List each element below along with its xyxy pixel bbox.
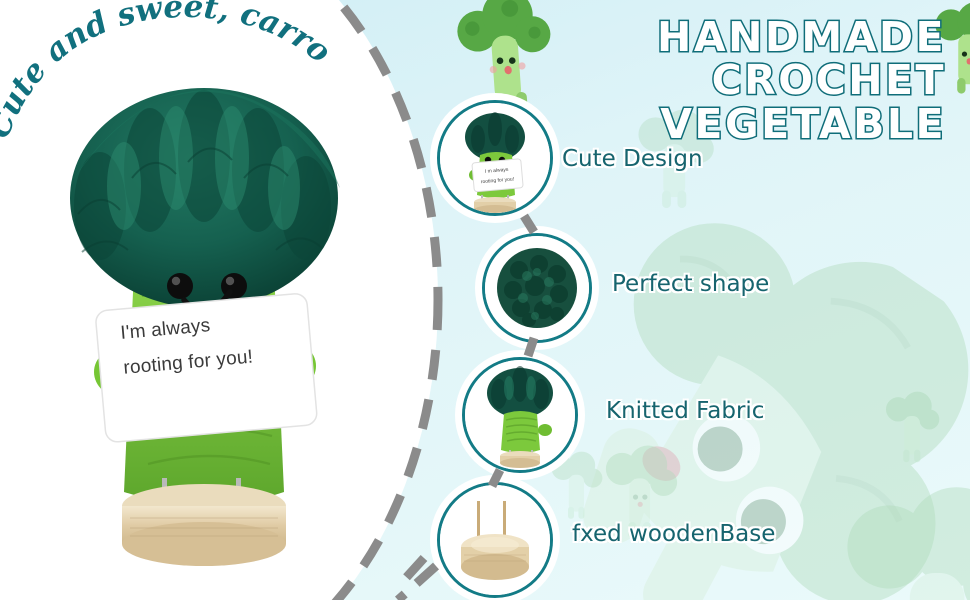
- feature-label-cute-design: Cute Design: [562, 146, 703, 172]
- promo-banner: I'm always rooting for you! Cute and swe…: [0, 0, 970, 600]
- page-title: HANDMADE CROCHET VEGETABLE: [476, 16, 946, 146]
- wooden-base-with-rods-icon: [440, 485, 550, 595]
- mascot-bottom-right-big: [824, 482, 970, 600]
- connector-1: [524, 216, 534, 232]
- feature-thumb-wooden-base[interactable]: [437, 482, 553, 598]
- script-headline: Cute and sweet, carrots: [0, 0, 354, 146]
- connector-4: [398, 566, 436, 600]
- script-headline-text: Cute and sweet, carrots: [0, 0, 337, 143]
- feature-label-knitted-fabric: Knitted Fabric: [606, 398, 764, 424]
- title-line-2: VEGETABLE: [476, 103, 946, 146]
- feature-label-perfect-shape: Perfect shape: [612, 271, 769, 297]
- feature-thumb-knitted-fabric[interactable]: [462, 357, 578, 473]
- broccoli-stem-backview-icon: [465, 360, 575, 470]
- connector-5: [404, 558, 424, 580]
- wooden-base: [122, 478, 286, 566]
- title-line-1: HANDMADE CROCHET: [476, 16, 946, 101]
- feature-label-wooden-base: fxed woodenBase: [572, 521, 775, 547]
- crochet-texture-topview-icon: [485, 236, 589, 340]
- feature-thumb-perfect-shape[interactable]: [482, 233, 592, 343]
- mascot-small-right: [878, 390, 945, 470]
